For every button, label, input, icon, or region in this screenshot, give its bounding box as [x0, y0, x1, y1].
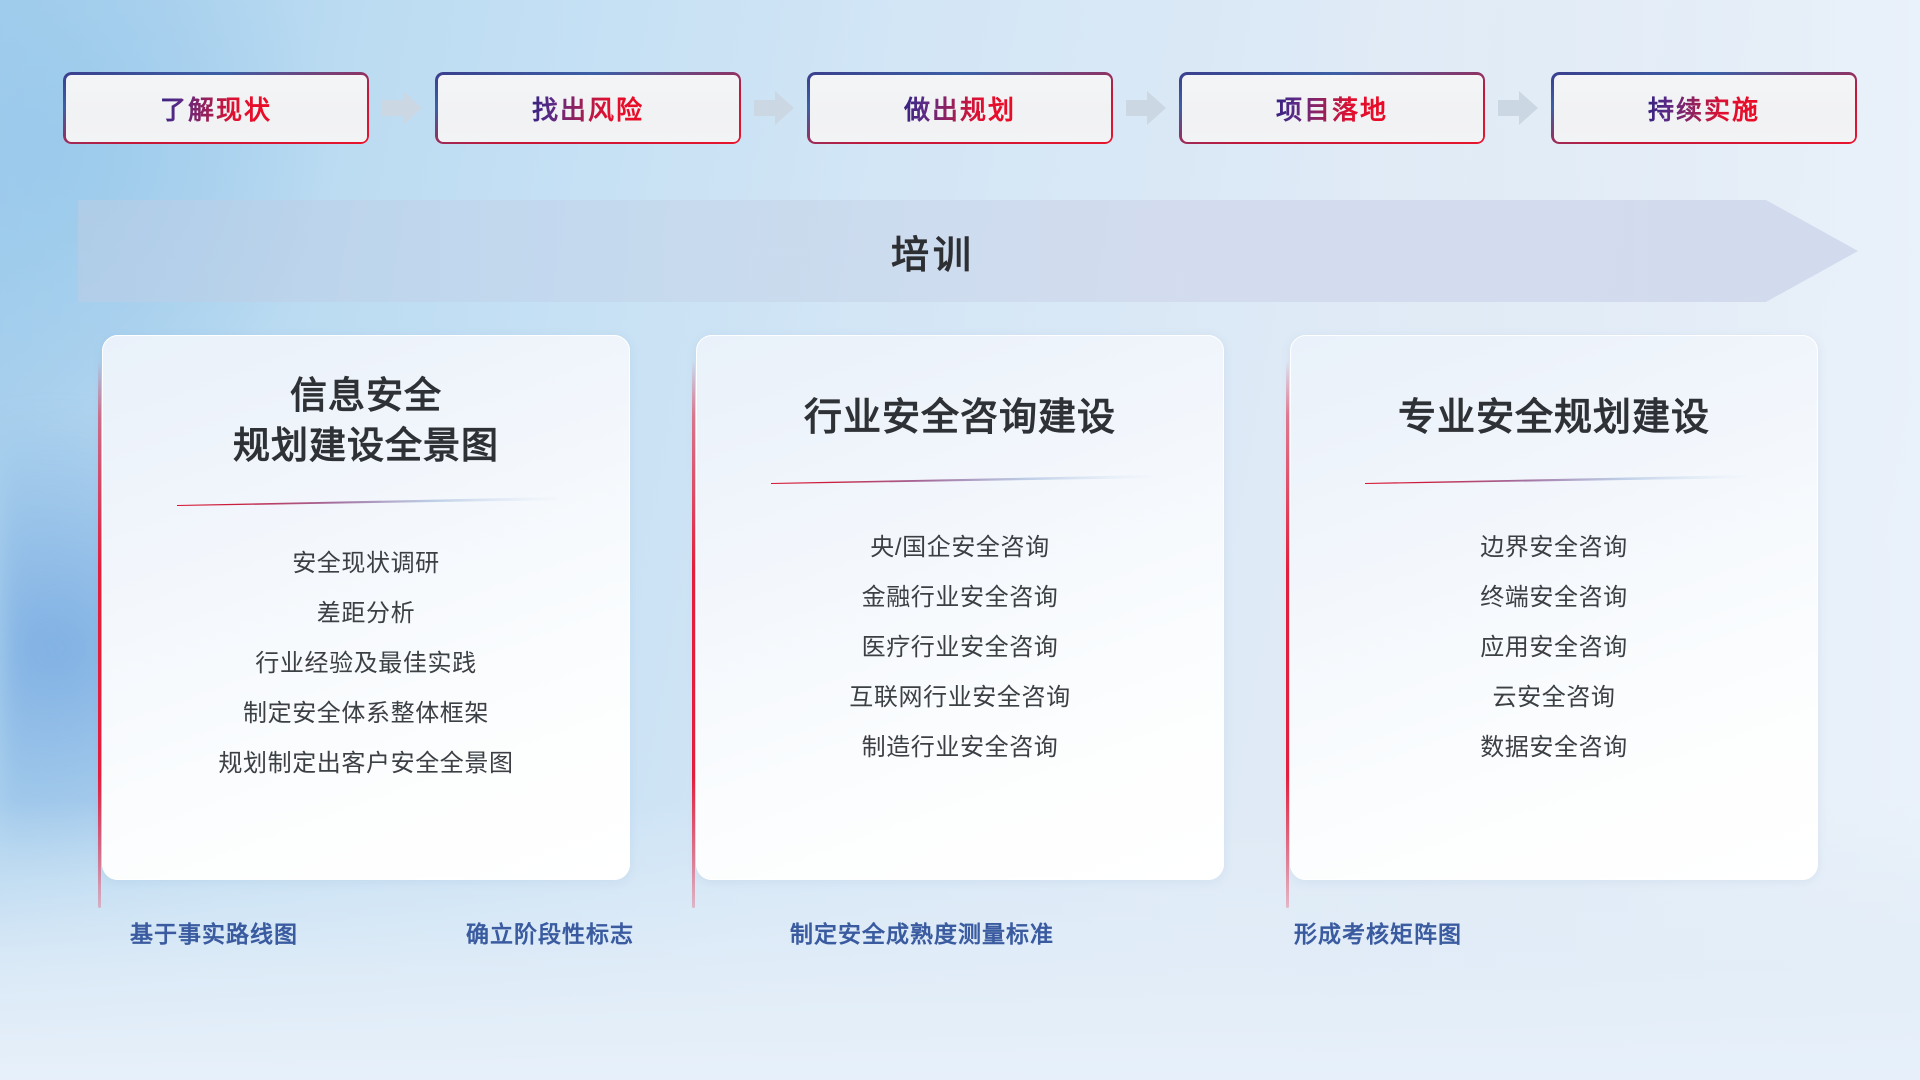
card-item[interactable]: 差距分析	[317, 589, 415, 639]
card-title-line: 专业安全规划建设	[1398, 393, 1710, 444]
step-box-1[interactable]: 了解现状	[63, 72, 369, 144]
card-2[interactable]: 行业安全咨询建设央/国企安全咨询金融行业安全咨询医疗行业安全咨询互联网行业安全咨…	[696, 335, 1224, 880]
footer-label-2: 确立阶段性标志	[466, 915, 634, 949]
banner-label: 培训	[78, 200, 1858, 302]
step-arrow-icon	[741, 85, 807, 131]
card-item[interactable]: 规划制定出客户安全全景图	[218, 739, 513, 789]
footer-label-1: 基于事实路线图	[130, 915, 298, 949]
card-divider	[769, 474, 1151, 483]
training-banner: 培训	[78, 200, 1858, 302]
footer-label-3: 制定安全成熟度测量标准	[790, 915, 1054, 949]
card-item[interactable]: 互联网行业安全咨询	[849, 673, 1070, 723]
process-steps: 了解现状找出风险做出规划项目落地持续实施	[0, 72, 1920, 144]
card-title-line: 规划建设全景图	[233, 421, 499, 471]
step-box-2[interactable]: 找出风险	[435, 72, 741, 144]
card-title-line: 行业安全咨询建设	[804, 393, 1116, 444]
card-1[interactable]: 信息安全规划建设全景图安全现状调研差距分析行业经验及最佳实践制定安全体系整体框架…	[102, 335, 630, 880]
card-red-accent	[692, 361, 695, 908]
card-item[interactable]: 金融行业安全咨询	[862, 573, 1059, 623]
step-label: 找出风险	[532, 90, 644, 127]
card-red-accent	[98, 361, 101, 908]
step-label: 做出规划	[904, 90, 1016, 127]
step-label: 持续实施	[1648, 90, 1760, 127]
step-box-3[interactable]: 做出规划	[807, 72, 1113, 144]
card-item[interactable]: 制定安全体系整体框架	[243, 689, 489, 739]
card-divider	[1363, 474, 1745, 483]
card-item[interactable]: 安全现状调研	[292, 539, 440, 589]
card-item-list: 央/国企安全咨询金融行业安全咨询医疗行业安全咨询互联网行业安全咨询制造行业安全咨…	[730, 523, 1190, 773]
card-divider	[175, 496, 557, 505]
cards-row: 信息安全规划建设全景图安全现状调研差距分析行业经验及最佳实践制定安全体系整体框架…	[0, 335, 1920, 880]
card-3[interactable]: 专业安全规划建设边界安全咨询终端安全咨询应用安全咨询云安全咨询数据安全咨询	[1290, 335, 1818, 880]
card-item[interactable]: 行业经验及最佳实践	[255, 639, 476, 689]
step-box-4[interactable]: 项目落地	[1179, 72, 1485, 144]
card-title: 信息安全规划建设全景图	[233, 371, 499, 470]
card-title: 行业安全咨询建设	[804, 393, 1116, 444]
step-box-5[interactable]: 持续实施	[1551, 72, 1857, 144]
card-item[interactable]: 终端安全咨询	[1480, 573, 1628, 623]
card-title: 专业安全规划建设	[1398, 393, 1710, 444]
card-item[interactable]: 央/国企安全咨询	[870, 523, 1049, 573]
step-arrow-icon	[1113, 85, 1179, 131]
card-item-list: 安全现状调研差距分析行业经验及最佳实践制定安全体系整体框架规划制定出客户安全全景…	[136, 539, 596, 789]
card-item[interactable]: 应用安全咨询	[1480, 623, 1628, 673]
step-label: 项目落地	[1276, 90, 1388, 127]
footer-label-4: 形成考核矩阵图	[1294, 915, 1462, 949]
step-arrow-icon	[369, 85, 435, 131]
card-item[interactable]: 边界安全咨询	[1480, 523, 1628, 573]
footer-labels: 基于事实路线图确立阶段性标志制定安全成熟度测量标准形成考核矩阵图	[0, 915, 1920, 959]
card-red-accent	[1286, 361, 1289, 908]
card-item[interactable]: 制造行业安全咨询	[862, 723, 1059, 773]
card-item[interactable]: 云安全咨询	[1493, 673, 1616, 723]
card-item-list: 边界安全咨询终端安全咨询应用安全咨询云安全咨询数据安全咨询	[1324, 523, 1784, 773]
step-label: 了解现状	[160, 90, 272, 127]
card-title-line: 信息安全	[233, 371, 499, 421]
card-item[interactable]: 医疗行业安全咨询	[862, 623, 1059, 673]
card-item[interactable]: 数据安全咨询	[1480, 723, 1628, 773]
step-arrow-icon	[1485, 85, 1551, 131]
